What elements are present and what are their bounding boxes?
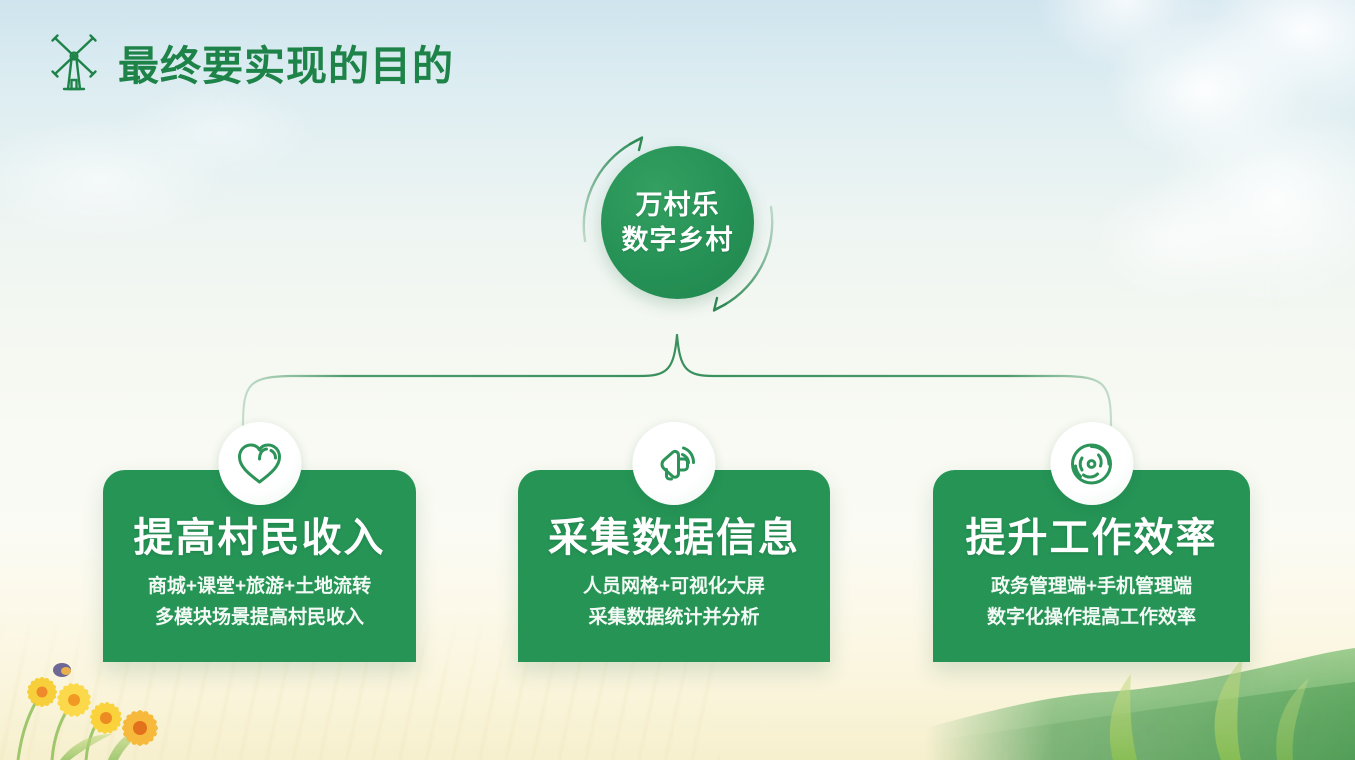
card-subtitle-line-2: 数字化操作提高工作效率 [987, 603, 1196, 634]
windmill-icon [48, 33, 100, 91]
card-subtitle: 商城+课堂+旅游+土地流转 多模块场景提高村民收入 [148, 572, 371, 634]
card-title: 提高村民收入 [134, 518, 386, 558]
center-hub: 万村乐 数字乡村 [578, 123, 778, 323]
card-subtitle-line-1: 政务管理端+手机管理端 [987, 572, 1196, 603]
goal-card-2[interactable]: 采集数据信息 人员网格+可视化大屏 采集数据统计并分析 [518, 470, 830, 662]
card-subtitle-line-2: 采集数据统计并分析 [583, 603, 765, 634]
card-subtitle-line-2: 多模块场景提高村民收入 [148, 603, 371, 634]
page-title-row: 最终要实现的目的 [48, 32, 454, 92]
card-title: 提升工作效率 [966, 518, 1218, 558]
goal-card-1[interactable]: 提高村民收入 商城+课堂+旅游+土地流转 多模块场景提高村民收入 [103, 470, 416, 662]
card-title: 采集数据信息 [548, 518, 800, 558]
card-subtitle-line-1: 商城+课堂+旅游+土地流转 [148, 572, 371, 603]
page-title: 最终要实现的目的 [118, 32, 454, 92]
disc-target-icon [1050, 422, 1133, 505]
hub-circle: 万村乐 数字乡村 [601, 146, 754, 299]
hub-line-1: 万村乐 [636, 189, 720, 222]
card-subtitle: 政务管理端+手机管理端 数字化操作提高工作效率 [987, 572, 1196, 634]
card-subtitle-line-1: 人员网格+可视化大屏 [583, 572, 765, 603]
slide-canvas: 最终要实现的目的 万村乐 数字乡村 [0, 0, 1355, 760]
brace-connector [0, 315, 1355, 430]
heart-icon [218, 422, 301, 505]
megaphone-icon [633, 422, 716, 505]
goal-card-3[interactable]: 提升工作效率 政务管理端+手机管理端 数字化操作提高工作效率 [933, 470, 1250, 662]
hub-line-2: 数字乡村 [622, 224, 734, 257]
card-subtitle: 人员网格+可视化大屏 采集数据统计并分析 [583, 572, 765, 634]
